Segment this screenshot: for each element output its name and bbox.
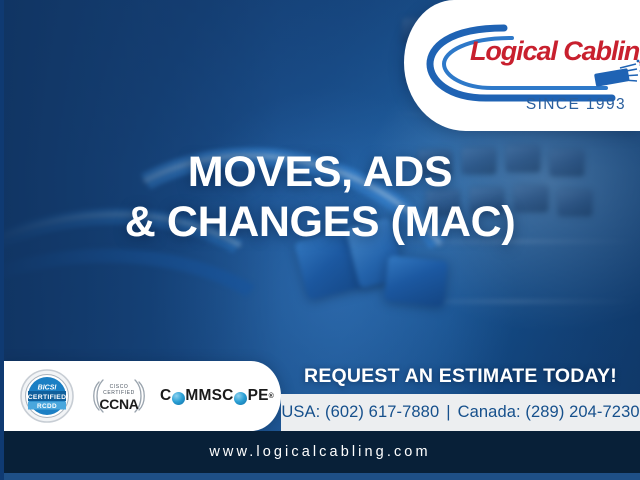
bicsi-rcdd-seal-svg: BICSI CERTIFIED RCDD (16, 368, 78, 424)
phone-separator: | (446, 403, 450, 422)
left-edge-border (0, 0, 4, 480)
footer-accent-strip (0, 473, 640, 480)
logo-tagline: SINCE 1993 (526, 96, 626, 114)
usa-phone-number[interactable]: (602) 617-7880 (325, 403, 439, 422)
commscope-badge: C MMSC PE ® (160, 387, 274, 405)
bicsi-certified-text: CERTIFIED (28, 394, 67, 401)
logo-word-two: Cabling (563, 36, 640, 66)
cisco-ccna-badge: CISCO CERTIFIED CCNA (90, 374, 148, 418)
usa-phone-label: USA: (281, 403, 320, 422)
footer-website-url[interactable]: www.logicalcabling.com (209, 444, 430, 460)
canada-phone-label: Canada: (458, 403, 521, 422)
logo-word-one: Logical (470, 36, 557, 66)
commscope-text-after: PE (248, 387, 269, 405)
headline-line-2: & CHANGES (MAC) (0, 198, 640, 248)
commscope-globe-icon (172, 392, 185, 405)
bicsi-rcdd-text: RCDD (37, 403, 57, 410)
commscope-text-mid: MMSC (185, 387, 233, 405)
commscope-globe-icon (234, 392, 247, 405)
estimate-cta-text: REQUEST AN ESTIMATE TODAY! (281, 358, 640, 394)
certification-badges: BICSI CERTIFIED RCDD CISCO CERTIFIED (0, 368, 274, 424)
commscope-trademark: ® (269, 393, 274, 400)
headline-line-1: MOVES, ADS (188, 148, 452, 196)
footer-bar: www.logicalcabling.com (0, 431, 640, 473)
commscope-text-before: C (160, 387, 171, 405)
headline: MOVES, ADS & CHANGES (MAC) (0, 148, 640, 248)
bicsi-brand-text: BICSI (38, 385, 58, 392)
canada-phone-number[interactable]: (289) 204-7230 (525, 403, 639, 422)
marketing-banner: Logical Cabling SINCE 1993 MOVES, ADS & … (0, 0, 640, 480)
phone-bar: USA: (602) 617-7880 | Canada: (289) 204-… (281, 394, 640, 431)
bicsi-rcdd-badge: BICSI CERTIFIED RCDD (16, 368, 78, 424)
ccna-main-text: CCNA (99, 396, 138, 412)
logo-plate: Logical Cabling SINCE 1993 (404, 0, 640, 131)
cisco-ccna-seal-svg: CISCO CERTIFIED CCNA (90, 374, 148, 418)
certification-panel: BICSI CERTIFIED RCDD CISCO CERTIFIED (0, 361, 281, 431)
